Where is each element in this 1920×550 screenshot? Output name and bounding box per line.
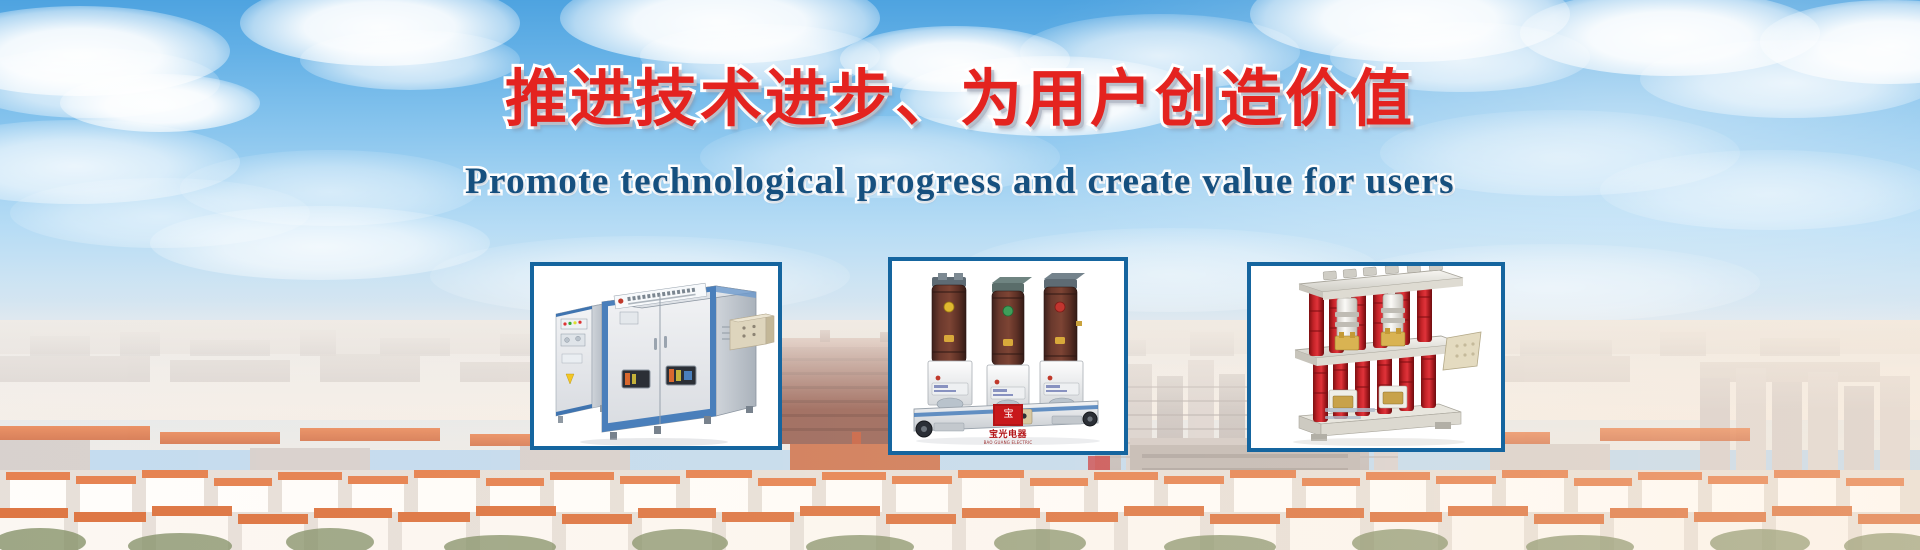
promotional-banner: 推进技术进步、为用户创造价值 Promote technological pro… <box>0 0 1920 550</box>
cloud-shape <box>1600 150 1920 230</box>
product-image-frame-3[interactable] <box>1247 262 1505 452</box>
product-photo-vacuum-contactor <box>1251 266 1501 448</box>
breaker-pole-2 <box>992 277 1032 365</box>
product-image-row: 宝 宝光电器 BAO GUANG ELECTRIC <box>530 262 1510 457</box>
logo-mark-icon: 宝 <box>993 404 1023 426</box>
vacuum-contactor-illustration <box>1251 266 1501 448</box>
logo-company-name-sub: BAO GUANG ELECTRIC <box>976 440 1040 445</box>
logo-company-name-cn: 宝光电器 <box>976 427 1040 440</box>
breaker-pole-1 <box>932 273 966 363</box>
vacuum-interrupter-tubes <box>1335 294 1405 338</box>
switchgear-cabinet-illustration <box>534 266 778 446</box>
breaker-pole-3 <box>1044 273 1085 365</box>
product-image-frame-2[interactable]: 宝 宝光电器 BAO GUANG ELECTRIC <box>888 257 1128 455</box>
cloud-shape <box>300 30 520 90</box>
cloud-shape <box>700 116 1060 198</box>
product-image-frame-1[interactable] <box>530 262 782 450</box>
product-photo-switchgear-cabinet <box>534 266 778 446</box>
manufacturer-logo: 宝 宝光电器 BAO GUANG ELECTRIC <box>976 404 1040 445</box>
product-photo-vacuum-circuit-breaker: 宝 宝光电器 BAO GUANG ELECTRIC <box>892 261 1124 451</box>
